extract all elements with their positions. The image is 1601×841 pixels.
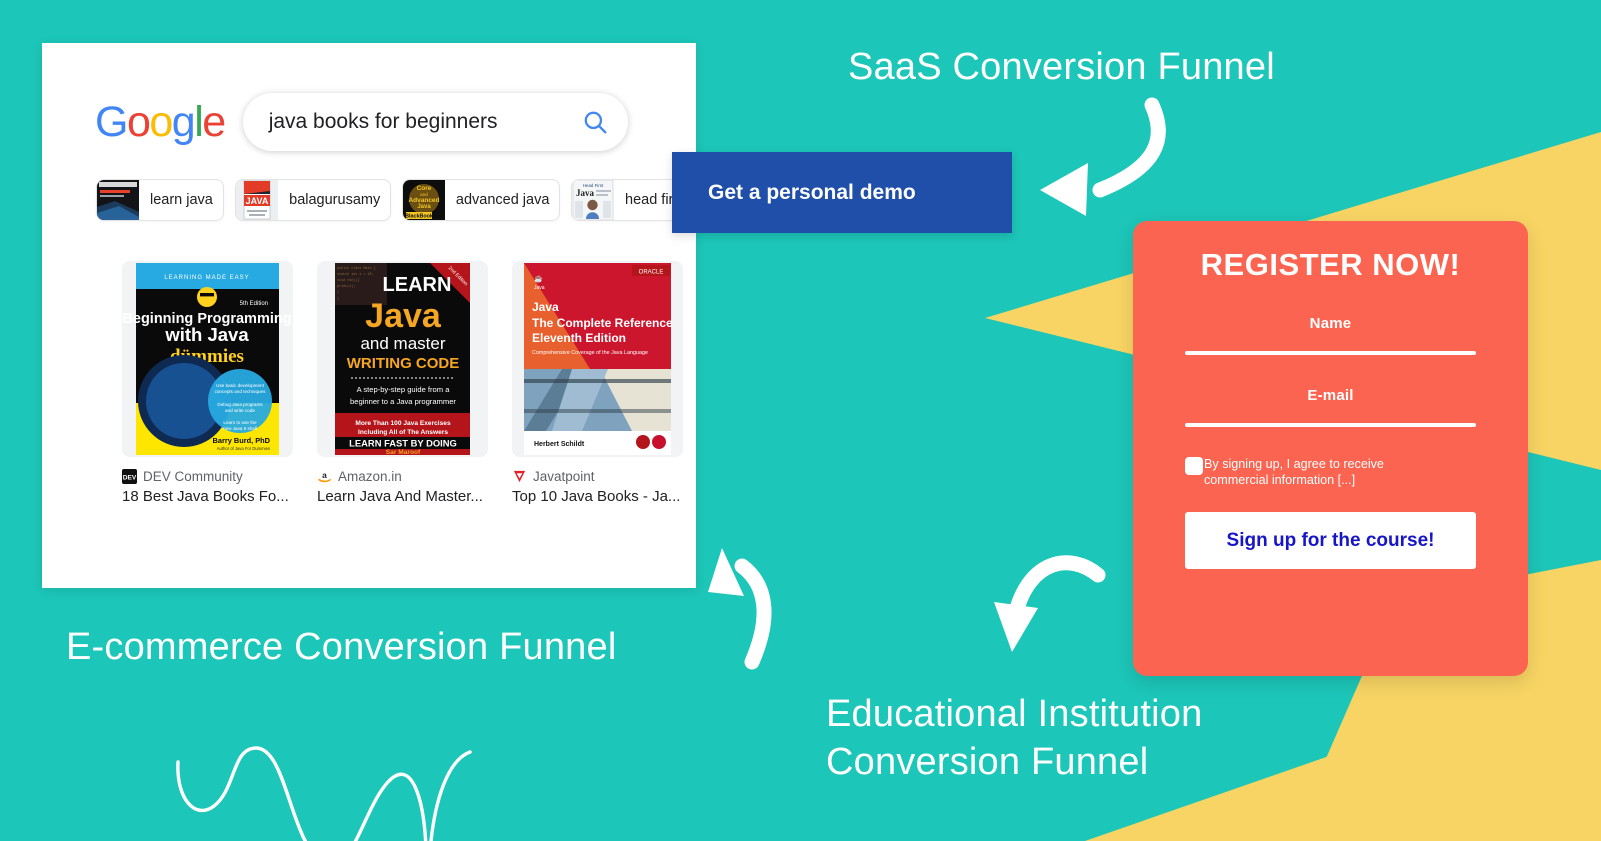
infographic-canvas: Google java books for beginners (0, 0, 1601, 841)
svg-text:void run(){: void run(){ (337, 278, 359, 283)
svg-text:BlackBook: BlackBook (405, 214, 433, 220)
arrow-saas-to-demo (1100, 105, 1158, 190)
dev-community-icon: DEV (122, 469, 137, 484)
svg-text:WRITING CODE: WRITING CODE (347, 355, 460, 372)
google-logo-letter-g: g (172, 98, 194, 146)
arrow-down-head (994, 602, 1038, 652)
search-result-item[interactable]: ORACLE ☕ Java Java The Complete Referenc… (512, 261, 683, 505)
svg-text:Herbert Schildt: Herbert Schildt (534, 441, 585, 448)
search-icon[interactable] (582, 109, 608, 135)
name-input[interactable] (1185, 351, 1476, 355)
svg-text:Java: Java (534, 285, 545, 291)
svg-text:a: a (322, 470, 327, 480)
svg-text:JAVA: JAVA (246, 196, 269, 206)
svg-text:Author of Java For Dummies: Author of Java For Dummies (217, 446, 270, 451)
email-input[interactable] (1185, 423, 1476, 427)
svg-text:Use basic development: Use basic development (216, 383, 264, 388)
google-logo: Google (95, 101, 225, 144)
google-logo-letter-o1: o (127, 98, 149, 146)
svg-text:The Complete Reference: The Complete Reference (532, 316, 673, 330)
result-source-name: Javatpoint (533, 469, 595, 484)
svg-text:More Than 100 Java Exercises: More Than 100 Java Exercises (355, 420, 451, 427)
svg-text:Comprehensive Coverage of the: Comprehensive Coverage of the Java Langu… (532, 350, 648, 356)
suggestion-chip-label: advanced java (445, 192, 560, 208)
svg-text:and master: and master (360, 334, 445, 353)
google-logo-letter-G: G (95, 98, 127, 146)
squiggle-decoration (178, 748, 470, 841)
heading-education-line1: Educational Institution (826, 690, 1202, 738)
svg-text:A step-by-step guide from a: A step-by-step guide from a (357, 385, 451, 394)
svg-text:and write code: and write code (225, 408, 255, 413)
head-first-book-thumb: Head First Java (572, 179, 614, 221)
svg-text:LEARNING MADE EASY: LEARNING MADE EASY (164, 275, 249, 281)
search-result-item[interactable]: public class Main { static int x = 10; v… (317, 261, 488, 505)
learn-java-book-thumb (97, 179, 139, 221)
svg-text:public class Main {: public class Main { (337, 266, 376, 271)
register-card-title: REGISTER NOW! (1185, 221, 1476, 283)
name-field-label: Name (1185, 315, 1476, 332)
google-logo-letter-e: e (202, 98, 224, 146)
svg-text:with Java: with Java (164, 324, 249, 345)
arrow-up-head (708, 548, 744, 596)
demo-button-label: Get a personal demo (708, 181, 916, 205)
register-now-card: REGISTER NOW! Name E-mail By signing up,… (1133, 221, 1528, 676)
svg-text:Java: Java (576, 188, 595, 198)
heading-education-funnel: Educational Institution Conversion Funne… (826, 690, 1202, 786)
result-source-name: DEV Community (143, 469, 243, 484)
svg-text:Java: Java (417, 204, 431, 210)
search-results-row: LEARNING MADE EASY 5th Edition Beginning… (42, 221, 696, 505)
email-field-group[interactable]: E-mail (1185, 387, 1476, 427)
svg-text:5th Edition: 5th Edition (240, 301, 268, 307)
result-title[interactable]: 18 Best Java Books Fo... (122, 488, 293, 505)
svg-text:Debug Java programs: Debug Java programs (217, 402, 263, 407)
book-cover-java-the-complete-reference[interactable]: ORACLE ☕ Java Java The Complete Referenc… (512, 261, 683, 457)
result-title[interactable]: Learn Java And Master... (317, 488, 488, 505)
google-search-header: Google java books for beginners (42, 43, 696, 151)
result-source: Javatpoint (512, 469, 683, 484)
result-source: DEV DEV Community (122, 469, 293, 484)
svg-text:new Java 9 shell: new Java 9 shell (223, 426, 257, 431)
heading-saas-funnel: SaaS Conversion Funnel (848, 46, 1275, 89)
search-suggestion-chips: learn java JAVA balagurusamy (42, 151, 696, 221)
consent-line-2: commercial information [...] (1204, 472, 1384, 488)
heading-ecommerce-funnel: E-commerce Conversion Funnel (66, 626, 616, 669)
consent-checkbox[interactable] (1185, 457, 1203, 475)
svg-text:Java: Java (532, 300, 559, 314)
svg-text:LEARN FAST BY DOING: LEARN FAST BY DOING (349, 438, 457, 449)
suggestion-chip-learn-java[interactable]: learn java (96, 179, 224, 221)
svg-text:}: } (337, 290, 339, 295)
suggestion-chip-label: balagurusamy (278, 192, 391, 208)
svg-text:ORACLE: ORACLE (639, 269, 664, 275)
book-cover-learn-java-and-master-writing-code[interactable]: public class Main { static int x = 10; v… (317, 261, 488, 457)
svg-text:beginner to a Java programmer: beginner to a Java programmer (350, 397, 456, 406)
svg-text:DEV: DEV (123, 475, 137, 482)
search-input[interactable]: java books for beginners (269, 110, 582, 134)
search-result-item[interactable]: LEARNING MADE EASY 5th Edition Beginning… (122, 261, 293, 505)
google-search-card: Google java books for beginners (42, 43, 696, 588)
result-source: a Amazon.in (317, 469, 488, 484)
advanced-java-book-thumb: Core and Advanced Java BlackBook (403, 179, 445, 221)
result-title[interactable]: Top 10 Java Books - Ja... (512, 488, 683, 505)
svg-text:Barry Burd, PhD: Barry Burd, PhD (213, 436, 271, 445)
result-source-name: Amazon.in (338, 469, 402, 484)
svg-text:Java: Java (365, 297, 442, 335)
signup-button-label: Sign up for the course! (1227, 530, 1435, 552)
consent-text: By signing up, I agree to receive commer… (1204, 456, 1384, 488)
javatpoint-icon (512, 469, 527, 484)
google-logo-letter-o2: o (149, 98, 171, 146)
search-bar[interactable]: java books for beginners (243, 93, 628, 151)
svg-text:concepts and techniques: concepts and techniques (215, 389, 267, 394)
svg-text:LEARN: LEARN (383, 274, 452, 296)
consent-row[interactable]: By signing up, I agree to receive commer… (1185, 456, 1476, 488)
consent-line-1: By signing up, I agree to receive (1204, 456, 1384, 472)
name-field-group[interactable]: Name (1185, 315, 1476, 355)
svg-text:Sar Maroof: Sar Maroof (386, 449, 421, 456)
arrow-saas-head (1040, 163, 1088, 216)
svg-text:Including All of The Answers: Including All of The Answers (358, 429, 448, 436)
suggestion-chip-advanced-java[interactable]: Core and Advanced Java BlackBook advance… (402, 179, 560, 221)
svg-text:☕: ☕ (534, 274, 543, 283)
svg-text:static int x = 10;: static int x = 10; (337, 272, 374, 277)
heading-education-line2: Conversion Funnel (826, 738, 1202, 786)
balagurusamy-book-thumb: JAVA (236, 179, 278, 221)
svg-text:Learn to use the: Learn to use the (223, 420, 257, 425)
svg-text:Core: Core (416, 185, 431, 192)
suggestion-chip-balagurusamy[interactable]: JAVA balagurusamy (235, 179, 391, 221)
suggestion-chip-label: learn java (139, 192, 224, 208)
book-cover-beginning-programming-with-java[interactable]: LEARNING MADE EASY 5th Edition Beginning… (122, 261, 293, 457)
email-field-label: E-mail (1185, 387, 1476, 404)
signup-for-course-button[interactable]: Sign up for the course! (1185, 512, 1476, 569)
svg-text:Advanced: Advanced (408, 197, 439, 204)
svg-text:}: } (337, 296, 339, 301)
arrow-up-to-google-card (742, 566, 764, 662)
amazon-icon: a (317, 469, 332, 484)
get-personal-demo-button[interactable]: Get a personal demo (672, 152, 1012, 233)
arrow-down-to-edu (1016, 563, 1098, 612)
svg-text:Eleventh Edition: Eleventh Edition (532, 331, 626, 345)
svg-text:print(x);: print(x); (337, 284, 355, 289)
